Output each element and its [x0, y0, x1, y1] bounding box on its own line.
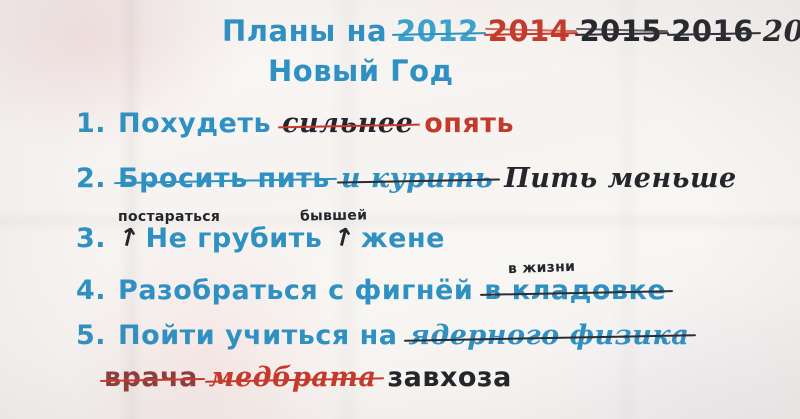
paper-crease	[612, 0, 642, 419]
item-text-correction: Пить меньше	[504, 163, 737, 194]
annotation-above-line: бывшей	[300, 207, 368, 224]
item-text: жене	[361, 223, 445, 254]
year-2014: 2014	[488, 14, 571, 48]
item-text-struck: в кладовке	[484, 275, 666, 306]
item-text-struck: Бросить пить	[118, 163, 330, 194]
item-text: Разобраться с фигнёй	[118, 275, 473, 306]
item-number: 5.	[76, 320, 106, 351]
item-text-struck: медбрата	[209, 362, 377, 393]
item-number: 3.	[76, 223, 106, 254]
caret-arrow-icon: ↑	[115, 221, 143, 254]
item-number: 1.	[76, 108, 106, 139]
list-item: 1.Похудетьсильнееопять	[76, 108, 514, 139]
item-text-correction: опять	[424, 108, 514, 139]
list-item-continuation: врачамедбратазавхоза	[104, 362, 512, 393]
title-prefix: Планы на	[222, 14, 387, 48]
item-text: Не грубить	[146, 223, 323, 254]
caret-arrow-icon: ↑	[330, 221, 358, 254]
year-2016: 2016	[671, 14, 754, 48]
item-text-struck: и курить	[341, 163, 493, 194]
year-2017: 2017	[763, 14, 800, 48]
note-title: Планы на20122014201520162017	[222, 14, 800, 48]
note-subtitle: Новый Год	[268, 54, 454, 88]
item-text: Пойти учиться на	[118, 320, 397, 351]
item-text-struck: сильнее	[282, 108, 413, 139]
year-2015: 2015	[579, 14, 662, 48]
item-text-struck: врача	[104, 362, 198, 393]
list-item: 4.Разобраться с фигнёйв кладовке	[76, 275, 666, 306]
list-item: 3.↑Не грубить↑жене	[76, 223, 445, 254]
list-item: 5.Пойти учиться наядерного физика	[76, 320, 689, 351]
item-number: 4.	[76, 275, 106, 306]
item-number: 2.	[76, 163, 106, 194]
year-2012: 2012	[396, 14, 479, 48]
item-text-correction: завхоза	[387, 362, 511, 393]
handwritten-note-photo: Планы на20122014201520162017 Новый Год 1…	[0, 0, 800, 419]
list-item: 2.Бросить питьи куритьПить меньше	[76, 163, 737, 194]
item-text-struck: ядерного физика	[408, 320, 689, 351]
item-text: Похудеть	[118, 108, 271, 139]
